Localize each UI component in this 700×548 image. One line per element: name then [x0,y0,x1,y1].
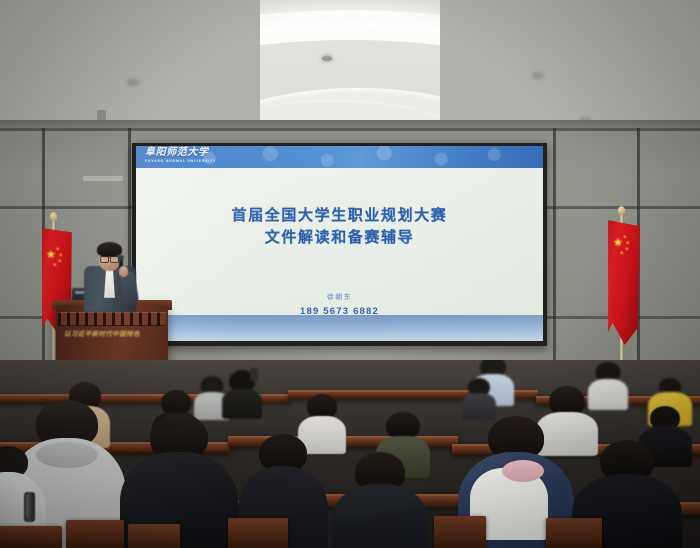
wall-seam [0,128,700,131]
audience-member-phone-raised [222,370,262,416]
flag-star-icon: ★ [625,247,629,251]
wall-top-trim [0,120,700,128]
podium-lattice-trim [58,312,166,326]
ceiling-downlight [128,80,138,85]
audience-torso [332,484,428,548]
phone-icon [250,368,258,381]
pink-hood [502,460,544,482]
chair-back [128,524,180,548]
flag-star-icon: ★ [626,241,630,245]
flag-star-icon: ★ [58,259,62,263]
flag-star-icon: ★ [620,251,624,255]
ceiling-corner-right [440,0,700,128]
chair-back [0,526,62,548]
audience-member [462,378,496,418]
flagpole-finial-icon [50,212,57,221]
flag-star-icon: ★ [56,247,60,251]
flagpole-finial-icon [618,206,625,215]
ceiling [0,0,700,128]
university-logo: 阜阳师范大学 FUYANG NORMAL UNIVERSITY [145,148,216,164]
slide-header-band: 阜阳师范大学 FUYANG NORMAL UNIVERSITY [136,146,543,168]
speaker-hand [119,266,128,277]
slide-title: 首届全国大学生职业规划大赛 文件解读和备赛辅导 [232,206,448,250]
wall-vent-strip [83,176,123,181]
chair-back [228,518,288,548]
slide-title-line-2: 文件解读和备赛辅导 [232,228,448,250]
chair-back [546,518,602,548]
flag-star-icon: ★ [59,253,63,257]
flag-star-icon: ★ [46,250,56,261]
ceiling-corner-left [0,0,260,128]
flag-star-icon: ★ [53,263,57,267]
ceiling-downlight [533,73,543,78]
slide-presenter-name: 徐朝东 [327,292,353,302]
lecture-hall-photo: ★ ★ ★ ★ ★ ★ ★ ★ ★ ★ 阜阳师范大学 FUYANG NORMAL… [0,0,700,548]
audience-head [386,412,420,439]
chair-back [66,520,124,548]
flag-star-icon: ★ [613,238,623,249]
university-logo-en: FUYANG NORMAL UNIVERSITY [145,160,216,164]
podium-calligraphy-text: 以习近平新时代中国特色 [64,328,160,338]
audience-seating-area [0,360,700,548]
slide-body: 首届全国大学生职业规划大赛 文件解读和备赛辅导 徐朝东 189 5673 688… [136,168,543,323]
chair-back [434,516,486,548]
glasses-icon [100,256,119,261]
slide-footer-band [136,315,543,341]
water-bottle-icon [24,492,35,522]
slide-title-line-1: 首届全国大学生职业规划大赛 [232,206,448,228]
university-logo-cn: 阜阳师范大学 [145,148,216,158]
ceiling-downlight [322,56,332,61]
projection-screen: 阜阳师范大学 FUYANG NORMAL UNIVERSITY 首届全国大学生职… [136,146,543,341]
projection-screen-frame: 阜阳师范大学 FUYANG NORMAL UNIVERSITY 首届全国大学生职… [132,143,547,346]
flag-star-icon: ★ [623,235,627,239]
audience-member-olive-left [332,452,428,548]
